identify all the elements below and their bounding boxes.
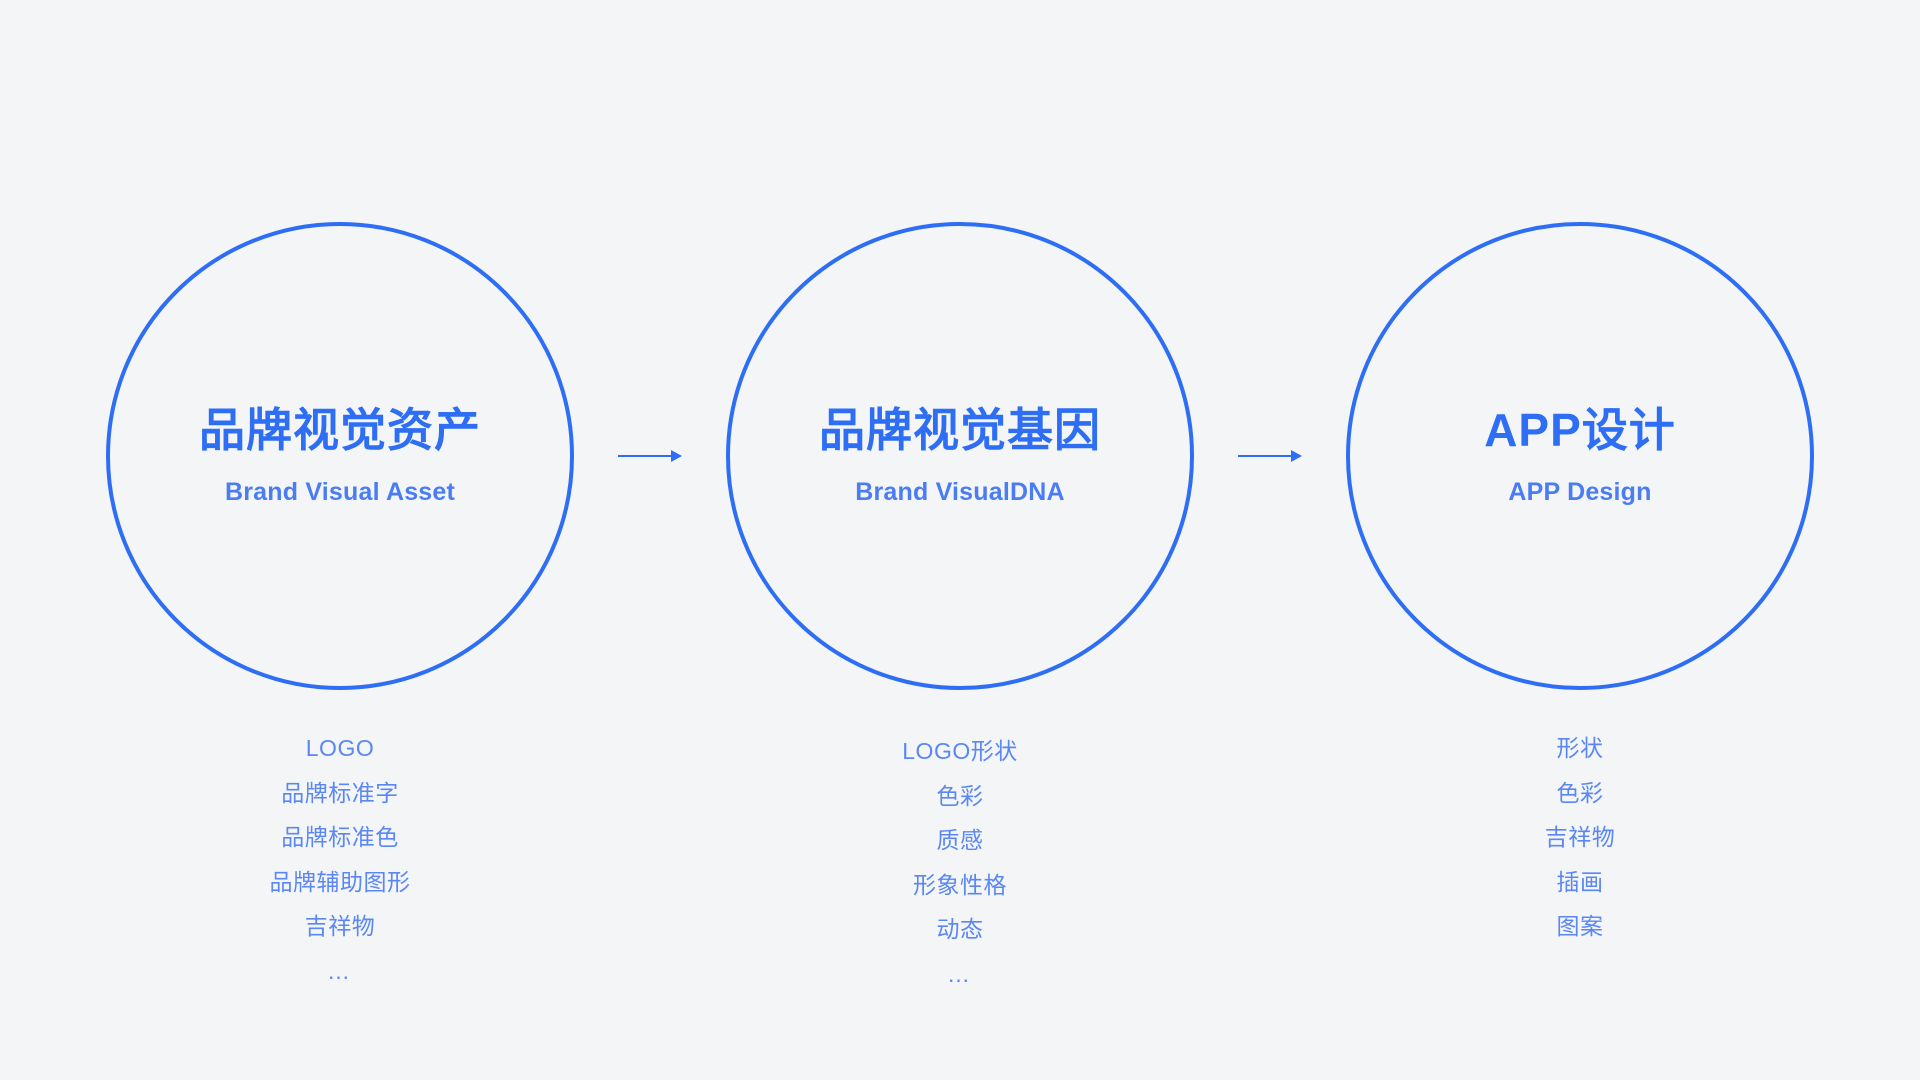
list-item: 形象性格 — [913, 863, 1007, 908]
list-item: LOGO — [306, 726, 374, 771]
item-list-brand-visual-asset: LOGO 品牌标准字 品牌标准色 品牌辅助图形 吉祥物 … — [106, 726, 574, 993]
list-item: 质感 — [937, 818, 984, 863]
stage-circle-app-design: APP设计 APP Design — [1346, 222, 1814, 690]
stage-subtitle: Brand VisualDNA — [855, 478, 1065, 507]
list-item: 吉祥物 — [1545, 815, 1616, 860]
list-item: 品牌标准色 — [281, 815, 399, 860]
stage-circle-brand-visual-dna: 品牌视觉基因 Brand VisualDNA — [726, 222, 1194, 690]
connector-arrow-1 — [574, 446, 726, 466]
stage-subtitle: APP Design — [1508, 478, 1651, 507]
arrow-right-icon — [618, 446, 682, 466]
list-item: 品牌标准字 — [281, 771, 399, 816]
list-item: 插画 — [1557, 860, 1604, 905]
item-list-brand-visual-dna: LOGO形状 色彩 质感 形象性格 动态 … — [726, 726, 1194, 996]
list-item: 色彩 — [937, 774, 984, 819]
stage-title: APP设计 — [1484, 405, 1676, 456]
stage-circles-row: 品牌视觉资产 Brand Visual Asset 品牌视觉基因 Brand V… — [0, 222, 1920, 690]
stage-circle-brand-visual-asset: 品牌视觉资产 Brand Visual Asset — [106, 222, 574, 690]
list-item: 图案 — [1557, 904, 1604, 949]
item-list-app-design: 形状 色彩 吉祥物 插画 图案 — [1346, 726, 1814, 949]
brand-visual-flow-diagram: 品牌视觉资产 Brand Visual Asset 品牌视觉基因 Brand V… — [0, 0, 1920, 1080]
list-item-ellipsis: … — [327, 949, 353, 993]
arrow-right-icon — [1238, 446, 1302, 466]
list-item: 色彩 — [1557, 771, 1604, 816]
list-item: 形状 — [1557, 726, 1604, 771]
list-item: 动态 — [937, 907, 984, 952]
stage-item-lists-row: LOGO 品牌标准字 品牌标准色 品牌辅助图形 吉祥物 … LOGO形状 色彩 … — [0, 726, 1920, 996]
connector-arrow-2 — [1194, 446, 1346, 466]
list-item: LOGO形状 — [902, 729, 1017, 774]
stage-title: 品牌视觉资产 — [199, 405, 481, 456]
stage-subtitle: Brand Visual Asset — [225, 478, 455, 507]
stage-title: 品牌视觉基因 — [819, 405, 1101, 456]
list-item-ellipsis: … — [947, 952, 973, 996]
list-item: 吉祥物 — [305, 904, 376, 949]
list-item: 品牌辅助图形 — [270, 860, 411, 905]
